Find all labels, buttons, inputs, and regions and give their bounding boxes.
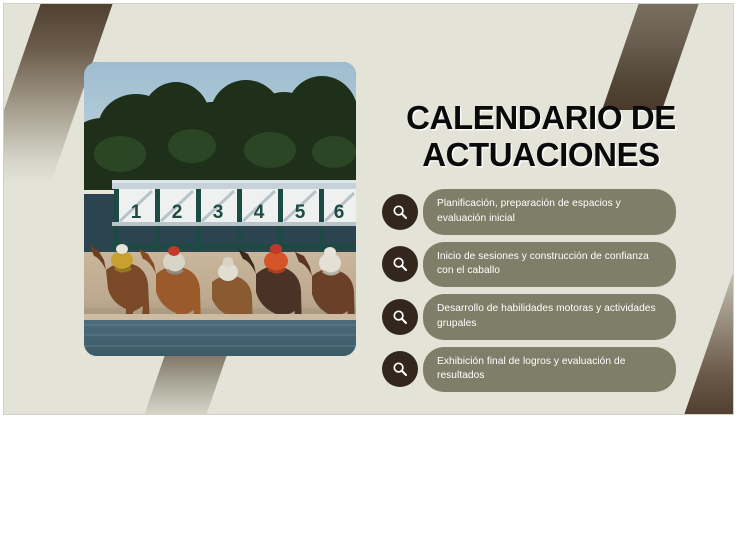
diagonal-band-bottom-right: [681, 238, 733, 414]
horse-race-photo: 1 2 3 4 5 6: [84, 62, 356, 356]
list-item-label: Exhibición final de logros y evaluación …: [423, 347, 676, 393]
slide-title: CALENDARIO DE ACTUACIONES: [376, 100, 706, 174]
bullet-list: Planificación, preparación de espacios y…: [382, 189, 676, 399]
list-item-label: Desarrollo de habilidades motoras y acti…: [423, 294, 676, 340]
svg-text:6: 6: [334, 202, 345, 223]
magnifier-icon: [382, 351, 418, 387]
svg-text:3: 3: [213, 202, 224, 223]
presentation-slide: 1 2 3 4 5 6: [4, 4, 733, 414]
list-item-label: Planificación, preparación de espacios y…: [423, 189, 676, 235]
svg-text:5: 5: [295, 202, 306, 223]
magnifier-icon: [382, 194, 418, 230]
list-item[interactable]: Planificación, preparación de espacios y…: [382, 189, 676, 235]
svg-text:1: 1: [131, 202, 142, 223]
horse-race-illustration: 1 2 3 4 5 6: [84, 62, 356, 356]
list-item[interactable]: Exhibición final de logros y evaluación …: [382, 347, 676, 393]
svg-text:4: 4: [254, 202, 265, 223]
diagonal-band-top-right: [602, 4, 702, 110]
magnifier-icon: [382, 299, 418, 335]
list-item[interactable]: Desarrollo de habilidades motoras y acti…: [382, 294, 676, 340]
list-item-label: Inicio de sesiones y construcción de con…: [423, 242, 676, 288]
magnifier-icon: [382, 246, 418, 282]
list-item[interactable]: Inicio de sesiones y construcción de con…: [382, 242, 676, 288]
svg-text:2: 2: [172, 202, 183, 223]
